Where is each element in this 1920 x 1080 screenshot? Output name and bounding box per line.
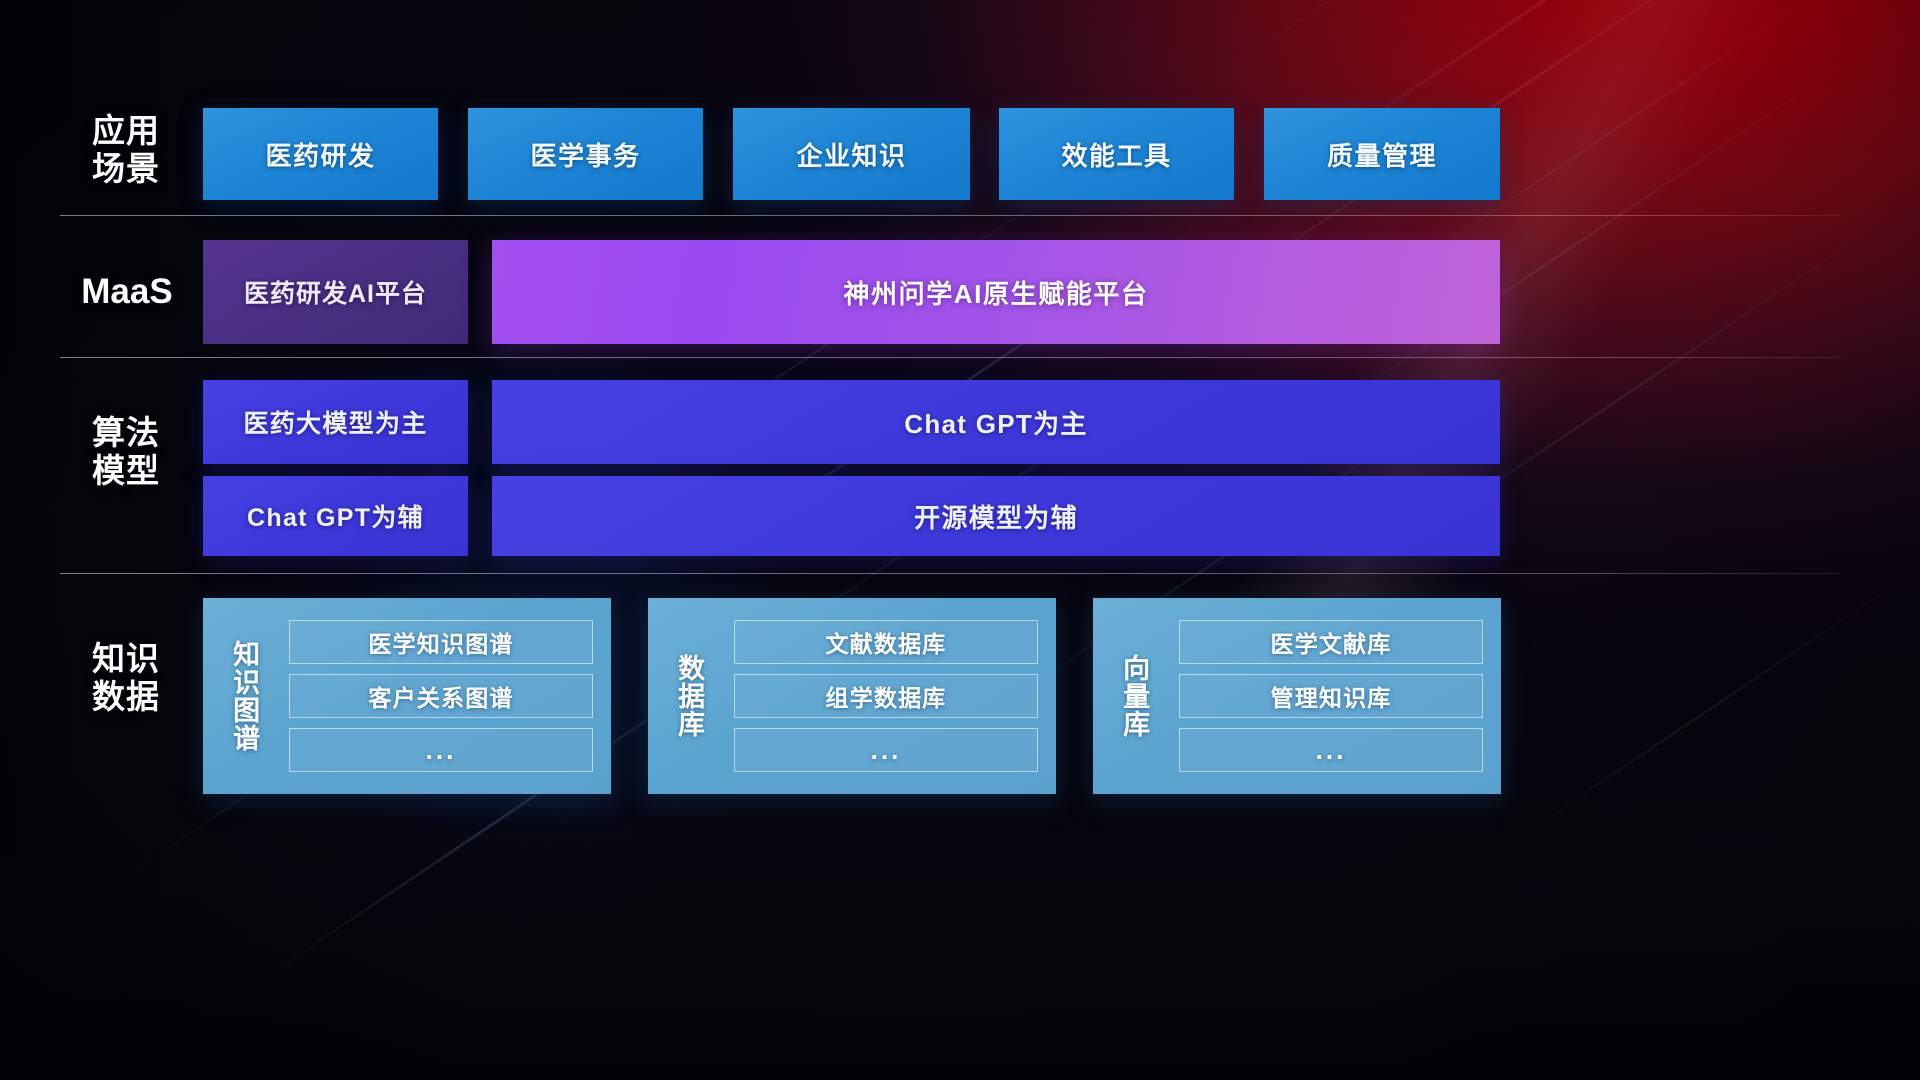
scenario-box-medicine-rd[interactable]: 医药研发 <box>203 108 438 200</box>
row-label-scenarios-line2: 场景 <box>62 150 190 188</box>
knowledge-panel-side-label: 数据库 <box>648 598 730 794</box>
algo-cell-opensource-secondary[interactable]: 开源模型为辅 <box>492 476 1500 556</box>
knowledge-item[interactable]: 文献数据库 <box>734 620 1038 664</box>
scenario-box-efficiency-tools[interactable]: 效能工具 <box>999 108 1234 200</box>
row-label-algorithm-line1: 算法 <box>62 414 190 452</box>
architecture-diagram: 应用 场景 医药研发 医学事务 企业知识 效能工具 质量管理 MaaS 医药研发… <box>0 0 1920 1080</box>
scenario-label: 效能工具 <box>1061 136 1171 173</box>
scenario-label: 企业知识 <box>796 136 906 173</box>
algo-cell-chatgpt-secondary[interactable]: Chat GPT为辅 <box>203 476 468 556</box>
knowledge-item[interactable]: 管理知识库 <box>1179 674 1483 718</box>
knowledge-item-more[interactable]: ... <box>289 728 593 772</box>
knowledge-item[interactable]: 医学知识图谱 <box>289 620 593 664</box>
knowledge-panel-items: 医学知识图谱 客户关系图谱 ... <box>285 598 611 794</box>
knowledge-item-more[interactable]: ... <box>1179 728 1483 772</box>
maas-platform-medicine-rd[interactable]: 医药研发AI平台 <box>203 240 468 344</box>
algo-cell-label: Chat GPT为辅 <box>247 498 424 534</box>
knowledge-panel-items: 文献数据库 组学数据库 ... <box>730 598 1056 794</box>
divider-2 <box>60 357 1840 358</box>
scenario-label: 医药研发 <box>265 136 375 173</box>
row-label-knowledge-line1: 知识 <box>62 640 190 678</box>
scenario-box-enterprise-knowledge[interactable]: 企业知识 <box>733 108 970 200</box>
row-label-algorithm-line2: 模型 <box>62 452 190 490</box>
algo-cell-medicine-llm-primary[interactable]: 医药大模型为主 <box>203 380 468 464</box>
row-label-knowledge-line2: 数据 <box>62 678 190 716</box>
maas-platform-shenzhou-wenxue[interactable]: 神州问学AI原生赋能平台 <box>492 240 1500 344</box>
row-label-scenarios-line1: 应用 <box>62 112 190 150</box>
scenario-box-quality-management[interactable]: 质量管理 <box>1264 108 1500 200</box>
knowledge-panel-items: 医学文献库 管理知识库 ... <box>1175 598 1501 794</box>
row-label-algorithm: 算法 模型 <box>62 414 190 491</box>
knowledge-item-more[interactable]: ... <box>734 728 1038 772</box>
knowledge-panel-database[interactable]: 数据库 文献数据库 组学数据库 ... <box>648 598 1056 794</box>
algo-cell-label: 开源模型为辅 <box>914 498 1078 535</box>
scenario-label: 医学事务 <box>530 136 640 173</box>
knowledge-item[interactable]: 组学数据库 <box>734 674 1038 718</box>
algo-cell-label: Chat GPT为主 <box>904 404 1087 441</box>
knowledge-item[interactable]: 医学文献库 <box>1179 620 1483 664</box>
maas-left-label: 医药研发AI平台 <box>244 274 427 310</box>
divider-1 <box>60 215 1840 216</box>
algo-cell-label: 医药大模型为主 <box>243 404 427 440</box>
knowledge-panel-side-label: 向量库 <box>1093 598 1175 794</box>
scenario-box-medical-affairs[interactable]: 医学事务 <box>468 108 703 200</box>
row-label-scenarios: 应用 场景 <box>62 112 190 189</box>
knowledge-panel-vector-store[interactable]: 向量库 医学文献库 管理知识库 ... <box>1093 598 1501 794</box>
knowledge-panel-knowledge-graph[interactable]: 知识图谱 医学知识图谱 客户关系图谱 ... <box>203 598 611 794</box>
row-label-knowledge: 知识 数据 <box>62 640 190 717</box>
row-label-maas: MaaS <box>54 272 200 313</box>
maas-right-label: 神州问学AI原生赋能平台 <box>843 274 1148 311</box>
scenario-label: 质量管理 <box>1327 136 1437 173</box>
divider-3 <box>60 573 1840 574</box>
knowledge-panel-side-label: 知识图谱 <box>203 598 285 794</box>
knowledge-item[interactable]: 客户关系图谱 <box>289 674 593 718</box>
algo-cell-chatgpt-primary[interactable]: Chat GPT为主 <box>492 380 1500 464</box>
